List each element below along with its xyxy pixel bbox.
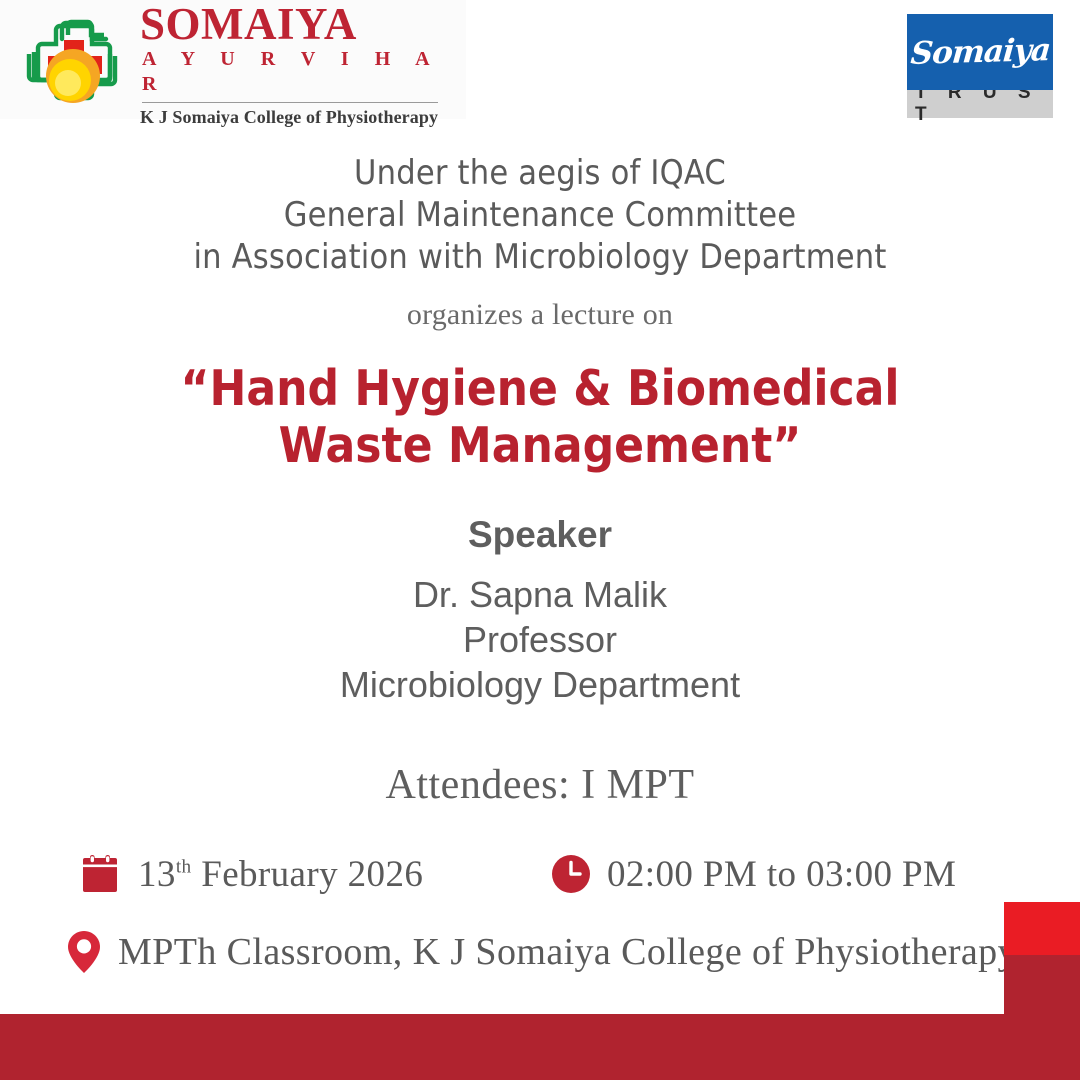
location-pin-icon xyxy=(62,930,106,974)
detail-row-date-time: 13th February 2026 02:00 PM to 03:00 PM xyxy=(0,852,1080,912)
clock-icon xyxy=(549,852,593,896)
institution-name: K J Somaiya College of Physiotherapy xyxy=(140,107,466,128)
aegis-block: Under the aegis of IQAC General Maintena… xyxy=(0,152,1080,278)
attendees-line: Attendees: I MPT xyxy=(0,761,1080,809)
event-venue-text: MPTh Classroom, K J Somaiya College of P… xyxy=(118,930,1017,974)
event-date-text: 13th February 2026 xyxy=(138,853,423,896)
decorative-block-bright-red xyxy=(1004,902,1080,955)
decorative-block-dark-red xyxy=(1004,955,1080,1015)
trust-script-text: Somaiya xyxy=(909,32,1051,72)
poster-body: Under the aegis of IQAC General Maintena… xyxy=(0,152,1080,809)
speaker-details: Dr. Sapna Malik Professor Microbiology D… xyxy=(0,572,1080,707)
somaiya-trust-logo: Somaiya T R U S T xyxy=(907,14,1053,118)
wordmark: SOMAIYA A Y U R V I H A R K J Somaiya Co… xyxy=(140,0,466,127)
event-date: 13th February 2026 xyxy=(78,852,423,896)
speaker-name: Dr. Sapna Malik xyxy=(0,572,1080,617)
brand-name: SOMAIYA xyxy=(140,2,466,46)
somaiya-ayurvihar-emblem-icon xyxy=(18,14,130,114)
event-poster: SOMAIYA A Y U R V I H A R K J Somaiya Co… xyxy=(0,0,1080,1080)
date-ordinal: th xyxy=(176,856,192,877)
lecture-title: “Hand Hygiene & Biomedical Waste Managem… xyxy=(0,360,1080,474)
aegis-line-3: in Association with Microbiology Departm… xyxy=(0,236,1080,278)
calendar-icon xyxy=(78,852,122,896)
sub-brand-name: A Y U R V I H A R xyxy=(140,47,466,97)
speaker-department: Microbiology Department xyxy=(0,662,1080,707)
date-day: 13 xyxy=(138,854,176,895)
organizes-line: organizes a lecture on xyxy=(0,298,1080,332)
event-venue: MPTh Classroom, K J Somaiya College of P… xyxy=(62,930,1017,974)
aegis-line-1: Under the aegis of IQAC xyxy=(0,152,1080,194)
wordmark-divider xyxy=(142,102,438,103)
speaker-designation: Professor xyxy=(0,617,1080,662)
event-time-text: 02:00 PM to 03:00 PM xyxy=(607,853,956,896)
date-rest: February 2026 xyxy=(192,854,424,895)
trust-logo-blue-panel: Somaiya xyxy=(907,14,1053,90)
aegis-line-2: General Maintenance Committee xyxy=(0,194,1080,236)
college-logo: SOMAIYA A Y U R V I H A R K J Somaiya Co… xyxy=(18,14,466,114)
trust-logo-gray-panel: T R U S T xyxy=(907,90,1053,118)
bottom-bar xyxy=(0,1014,1080,1080)
speaker-heading: Speaker xyxy=(0,514,1080,556)
event-time: 02:00 PM to 03:00 PM xyxy=(549,852,956,896)
